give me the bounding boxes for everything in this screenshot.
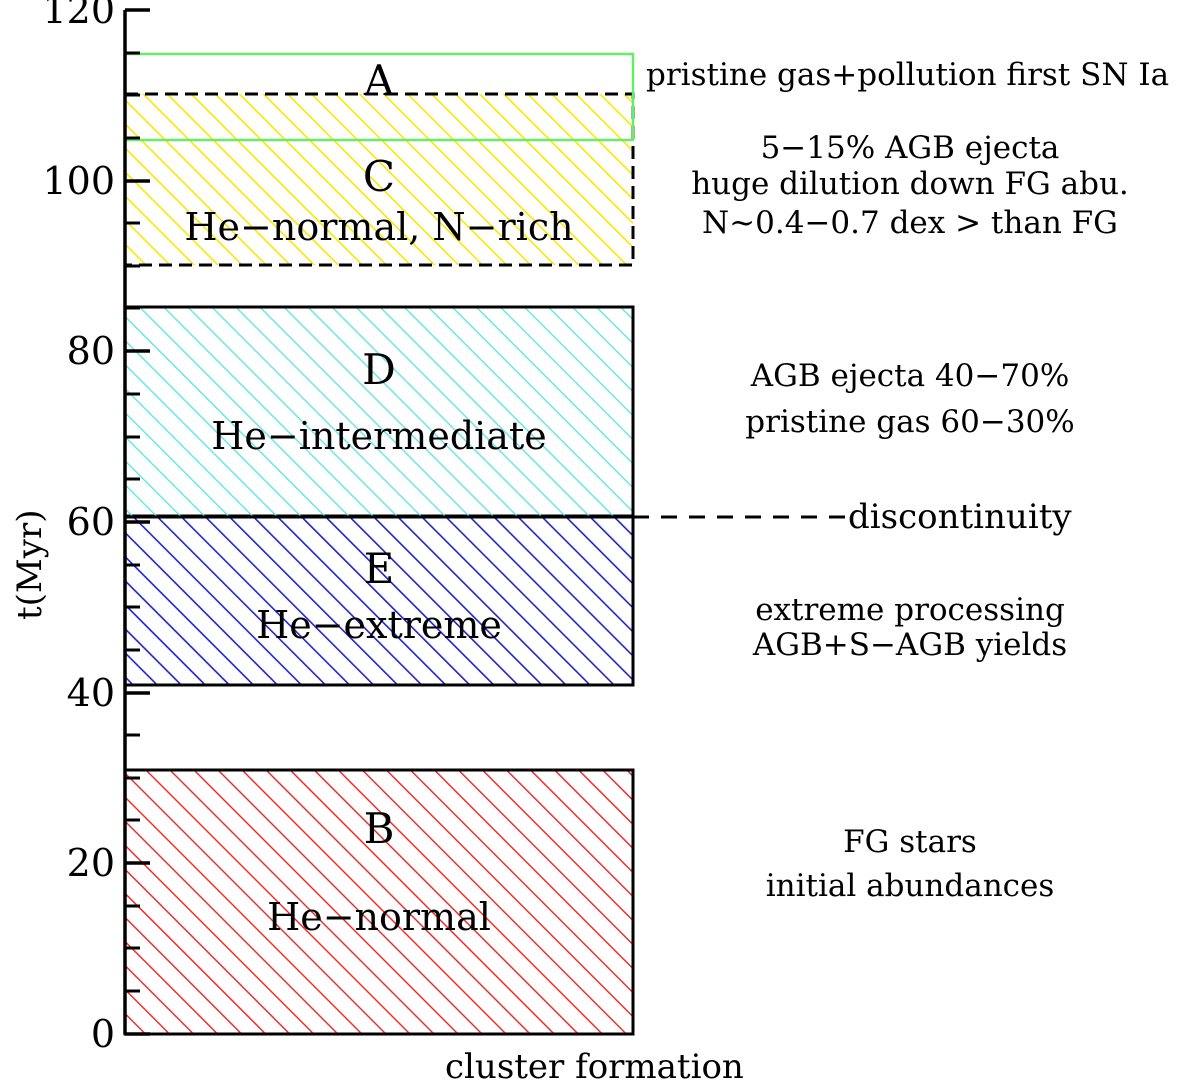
note-region-C-line1: 5−15% AGB ejecta	[640, 130, 1180, 167]
x-axis-title: cluster formation	[445, 1047, 744, 1087]
note-region-A: pristine gas+pollution first SN Ia	[646, 57, 1169, 94]
note-region-D-line1: AGB ejecta 40−70%	[640, 358, 1180, 395]
region-D-sublabel: He−intermediate	[125, 417, 633, 455]
note-region-E-line1: extreme processing	[640, 592, 1180, 629]
region-B-sublabel: He−normal	[125, 898, 633, 936]
y-tick-label-100: 100	[42, 162, 115, 200]
region-E-sublabel: He−extreme	[125, 606, 633, 644]
note-region-B-line2: initial abundances	[640, 868, 1180, 905]
figure-canvas: 120 100 80 60 40 20 0 t(Myr) cluster for…	[0, 0, 1200, 1085]
note-region-D-line2: pristine gas 60−30%	[640, 404, 1180, 441]
region-C-letter: C	[125, 156, 633, 198]
y-tick-label-40: 40	[67, 674, 115, 712]
region-E-labels: E He−extreme	[125, 516, 633, 685]
y-tick-label-0: 0	[91, 1015, 115, 1053]
note-region-B-line1: FG stars	[640, 824, 1180, 861]
discontinuity-label: discontinuity	[848, 497, 1072, 537]
region-D-letter: D	[125, 349, 633, 391]
region-C-sublabel: He−normal, N−rich	[125, 208, 633, 246]
y-axis-title: t(Myr)	[10, 510, 50, 620]
region-B-letter: B	[125, 808, 633, 850]
y-tick-label-120: 120	[42, 0, 115, 29]
y-tick-label-60: 60	[67, 503, 115, 541]
y-tick-label-20: 20	[67, 844, 115, 882]
note-region-C-line3: N~0.4−0.7 dex > than FG	[640, 205, 1180, 242]
region-C-labels: C He−normal, N−rich	[125, 94, 633, 265]
region-E-letter: E	[125, 548, 633, 590]
y-tick-label-80: 80	[67, 332, 115, 370]
region-D-labels: D He−intermediate	[125, 307, 633, 517]
note-region-C-line2: huge dilution down FG abu.	[640, 166, 1180, 203]
region-B-labels: B He−normal	[125, 770, 633, 1034]
note-region-E-line2: AGB+S−AGB yields	[640, 627, 1180, 664]
